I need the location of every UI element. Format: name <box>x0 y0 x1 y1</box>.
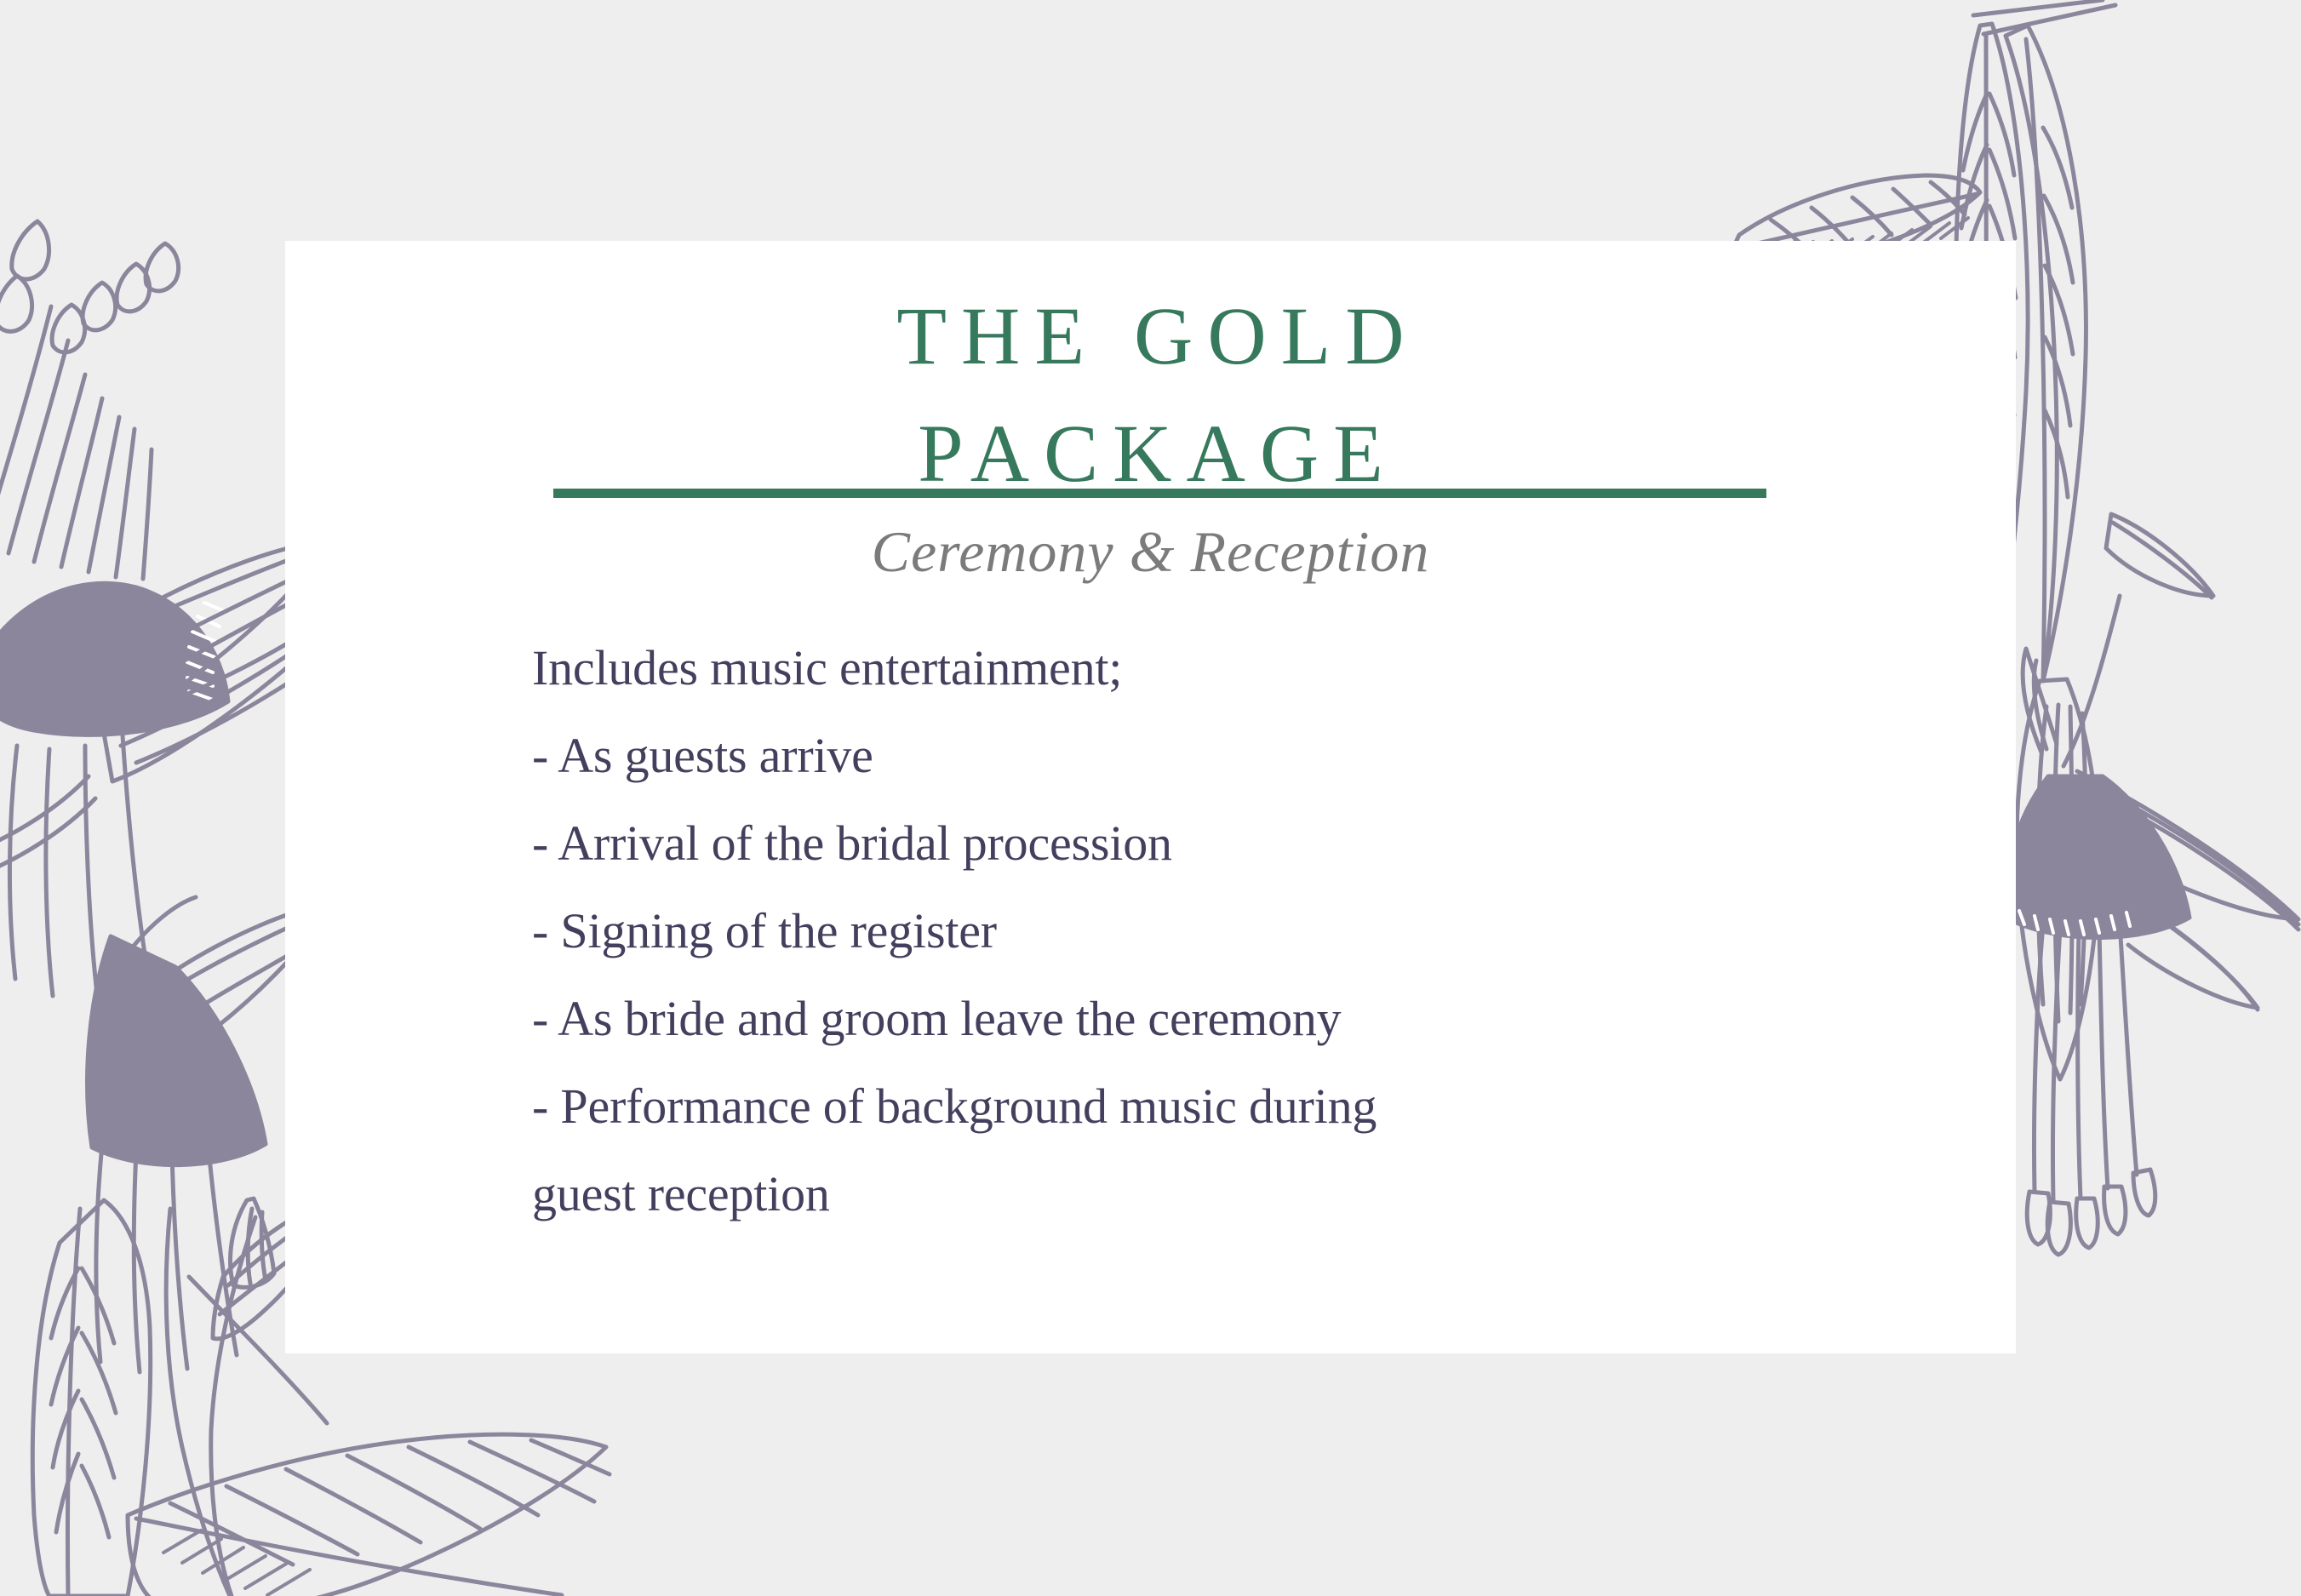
list-item: - As bride and groom leave the ceremony <box>532 975 1945 1062</box>
list-item: - Arrival of the bridal procession <box>532 799 1945 887</box>
title-divider-rule <box>553 489 1766 498</box>
subtitle: Ceremony & Reception <box>285 518 2016 587</box>
list-item: - As guests arrive <box>532 712 1945 799</box>
list-item-continuation: guest reception <box>532 1150 1945 1238</box>
content-card: THE GOLD PACKAGE Ceremony & Reception In… <box>285 241 2016 1353</box>
right-fuchsia-flower-icon <box>2006 514 2298 1255</box>
list-item: - Signing of the register <box>532 887 1945 975</box>
title-line-2: PACKAGE <box>285 413 2016 495</box>
slide-canvas: THE GOLD PACKAGE Ceremony & Reception In… <box>0 0 2301 1596</box>
package-details-list: Includes music entertainment; - As guest… <box>532 624 1945 1238</box>
page-title: THE GOLD PACKAGE <box>285 241 2016 495</box>
list-item: - Performance of background music during <box>532 1062 1945 1150</box>
list-intro: Includes music entertainment; <box>532 624 1945 712</box>
title-line-1: THE GOLD <box>285 295 2016 377</box>
